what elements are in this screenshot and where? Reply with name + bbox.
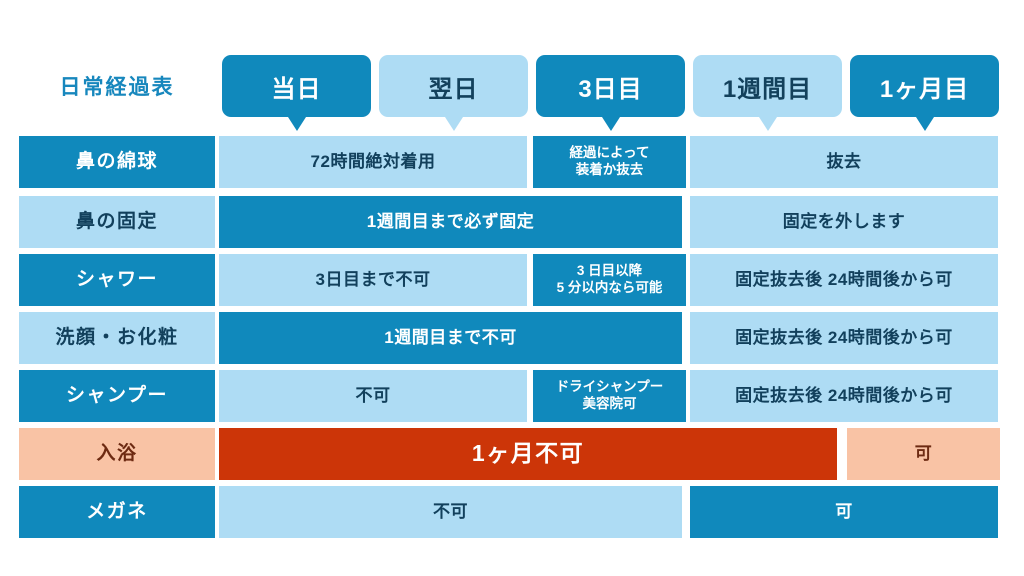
schedule-cell: 72時間絶対着用 xyxy=(219,136,527,188)
row-label: シャワー xyxy=(19,254,215,306)
schedule-cell: 固定抜去後 24時間後から可 xyxy=(690,312,998,364)
schedule-grid: 鼻の綿球72時間絶対着用経過によって 装着か抜去抜去鼻の固定1週間目まで必ず固定… xyxy=(0,0,1024,576)
row-label: 洗顔・お化粧 xyxy=(19,312,215,364)
row-label: 鼻の綿球 xyxy=(19,136,215,188)
schedule-cell: 1ヶ月不可 xyxy=(219,428,837,480)
schedule-cell: 可 xyxy=(847,428,1000,480)
row-label: シャンプー xyxy=(19,370,215,422)
schedule-cell: 固定抜去後 24時間後から可 xyxy=(690,370,998,422)
schedule-cell: 1週間目まで不可 xyxy=(219,312,682,364)
schedule-cell: ドライシャンプー 美容院可 xyxy=(533,370,686,422)
schedule-cell: 経過によって 装着か抜去 xyxy=(533,136,686,188)
schedule-cell: 可 xyxy=(690,486,998,538)
schedule-cell: 不可 xyxy=(219,370,527,422)
daily-progress-chart: 日常経過表 当日翌日3日目1週間目1ヶ月目 鼻の綿球72時間絶対着用経過によって… xyxy=(0,0,1024,576)
row-label: メガネ xyxy=(19,486,215,538)
schedule-cell: 固定抜去後 24時間後から可 xyxy=(690,254,998,306)
schedule-cell: 3 日目以降 5 分以内なら可能 xyxy=(533,254,686,306)
row-label: 入浴 xyxy=(19,428,215,480)
schedule-cell: 3日目まで不可 xyxy=(219,254,527,306)
row-label: 鼻の固定 xyxy=(19,196,215,248)
schedule-cell: 固定を外します xyxy=(690,196,998,248)
schedule-cell: 不可 xyxy=(219,486,682,538)
schedule-cell: 1週間目まで必ず固定 xyxy=(219,196,682,248)
schedule-cell: 抜去 xyxy=(690,136,998,188)
